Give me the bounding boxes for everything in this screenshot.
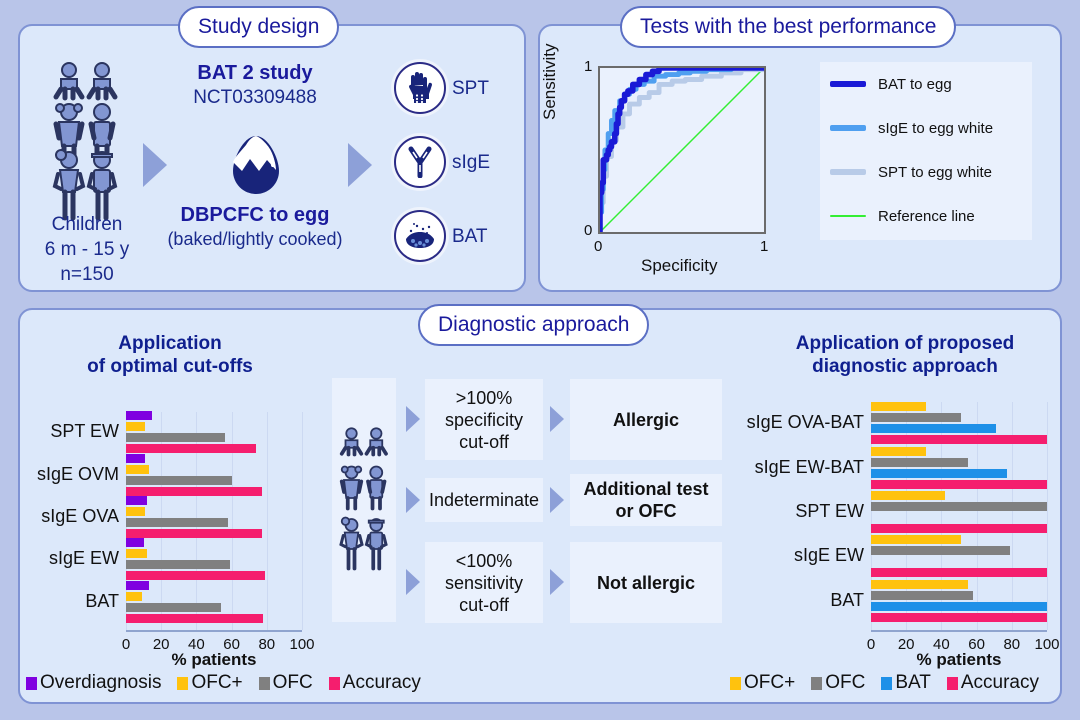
- left-chart-xlabel: % patients: [126, 650, 302, 670]
- bar-ofc: [871, 591, 973, 600]
- flow-criterion-3-line3: cut-off: [445, 594, 523, 616]
- legend-swatch: [881, 677, 892, 690]
- roc-plot-area: [598, 66, 766, 234]
- flow-arrow-row3-a: [406, 569, 420, 595]
- roc-ytick-0: 0: [584, 222, 592, 239]
- legend-swatch-sige-egg-white: [830, 125, 866, 131]
- flow-outcome-2-line2: or OFC: [584, 500, 709, 522]
- legend-item-ofc-: OFC+: [177, 672, 242, 694]
- bar-ofc: [126, 476, 232, 485]
- right-chart-title-line1: Application of proposed: [760, 332, 1050, 355]
- bar-overdiagnosis: [126, 496, 147, 505]
- bar-category-label: SPT EW: [795, 501, 871, 522]
- legend-label: OFC: [273, 672, 313, 694]
- legend-swatch-reference-line: [830, 215, 866, 217]
- bar-ofc-: [871, 402, 926, 411]
- legend-item-accuracy: Accuracy: [947, 672, 1039, 694]
- bar-group: sIgE EW: [126, 538, 302, 582]
- flow-arrow-row1-a: [406, 406, 420, 432]
- cohort-line-3: n=150: [22, 262, 152, 287]
- bar-category-label: sIgE EW: [49, 548, 126, 569]
- bar-category-label: BAT: [830, 590, 871, 611]
- bar-category-label: sIgE EW: [794, 545, 871, 566]
- right-chart-legend: OFC+OFCBATAccuracy: [730, 672, 1055, 694]
- bar-group: sIgE OVM: [126, 454, 302, 498]
- study-middle-heading: BAT 2 study NCT03309488: [160, 62, 350, 109]
- bar-accuracy: [871, 435, 1047, 444]
- flow-arrow-row2-b: [550, 487, 564, 513]
- right-bar-chart: sIgE OVA-BATsIgE EW-BATSPT EWsIgE EWBAT0…: [871, 402, 1047, 630]
- bar-category-label: sIgE EW-BAT: [755, 457, 871, 478]
- cohort-line-1: Children: [22, 212, 152, 237]
- flow-arrow-2: [348, 143, 372, 187]
- hand-prick-test-icon: [405, 71, 435, 105]
- legend-label: OFC: [825, 672, 865, 694]
- bat-label: BAT: [452, 226, 488, 248]
- flow-outcome-1: Allergic: [570, 379, 722, 460]
- cohort-caption: Children 6 m - 15 y n=150: [22, 212, 152, 287]
- bar-ofc: [871, 502, 1047, 511]
- bar-category-label: sIgE OVM: [37, 464, 126, 485]
- bar-group: sIgE EW-BAT: [871, 447, 1047, 491]
- spt-label: SPT: [452, 78, 489, 100]
- left-chart-title-line1: Application: [40, 332, 300, 355]
- bar-ofc-: [871, 580, 968, 589]
- bar-bat: [871, 602, 1047, 611]
- flow-arrow-1: [143, 143, 167, 187]
- sige-icon-badge: [394, 136, 446, 188]
- flow-criterion-3: <100% sensitivity cut-off: [425, 542, 543, 623]
- flow-arrow-row3-b: [550, 569, 564, 595]
- bar-group: sIgE EW: [871, 535, 1047, 579]
- diagnostic-title-pill: Diagnostic approach: [418, 304, 649, 346]
- study-name: BAT 2 study: [160, 62, 350, 85]
- roc-ylabel: Sensitivity: [540, 43, 560, 120]
- right-chart-title-line2: diagnostic approach: [760, 355, 1050, 378]
- legend-item-ofc-: OFC+: [730, 672, 795, 694]
- flow-arrow-row2-a: [406, 487, 420, 513]
- roc-legend: BAT to egg sIgE to egg white SPT to egg …: [820, 62, 1032, 240]
- legend-item-ofc: OFC: [811, 672, 865, 694]
- bar-group: SPT EW: [871, 491, 1047, 535]
- bar-ofc-: [871, 447, 926, 456]
- bar-ofc-: [126, 465, 149, 474]
- legend-item-spt-egg-white: SPT to egg white: [820, 150, 1032, 194]
- roc-xlabel: Specificity: [641, 256, 718, 276]
- bar-ofc-: [126, 592, 142, 601]
- bar-accuracy: [871, 480, 1047, 489]
- legend-item-ofc: OFC: [259, 672, 313, 694]
- bar-overdiagnosis: [126, 411, 152, 420]
- legend-label-sige-egg-white: sIgE to egg white: [878, 120, 993, 137]
- bar-group: BAT: [871, 580, 1047, 624]
- bar-ofc-: [871, 491, 945, 500]
- flow-outcome-2: Additional test or OFC: [570, 474, 722, 526]
- bar-ofc: [126, 433, 225, 442]
- legend-swatch: [947, 677, 958, 690]
- legend-swatch-spt-egg-white: [830, 169, 866, 175]
- bar-category-label: sIgE OVA: [41, 506, 126, 527]
- legend-swatch: [730, 677, 741, 690]
- sige-label: sIgE: [452, 152, 490, 174]
- bar-ofc-: [871, 535, 961, 544]
- left-chart-legend: OverdiagnosisOFC+OFCAccuracy: [26, 672, 437, 694]
- legend-label: BAT: [895, 672, 931, 694]
- family-group-icon: [338, 426, 392, 576]
- flow-criterion-2-line1: Indeterminate: [429, 489, 539, 511]
- bat-icon-badge: [394, 210, 446, 262]
- flow-criterion-3-line1: <100%: [445, 550, 523, 572]
- legend-item-reference-line: Reference line: [820, 194, 1032, 238]
- bar-group: BAT: [126, 581, 302, 625]
- legend-label-spt-egg-white: SPT to egg white: [878, 164, 992, 181]
- bar-overdiagnosis: [126, 538, 144, 547]
- registry-id: NCT03309488: [160, 87, 350, 109]
- legend-item-bat: BAT: [881, 672, 931, 694]
- x-axis-line: [871, 630, 1047, 632]
- flow-criterion-1-line1: >100%: [445, 387, 523, 409]
- bar-category-label: sIgE OVA-BAT: [747, 412, 871, 433]
- bar-group: sIgE OVA: [126, 496, 302, 540]
- legend-swatch: [177, 677, 188, 690]
- legend-item-sige-egg-white: sIgE to egg white: [820, 106, 1032, 150]
- flow-outcome-1-line1: Allergic: [613, 409, 679, 431]
- legend-item-overdiagnosis: Overdiagnosis: [26, 672, 161, 694]
- bar-accuracy: [871, 568, 1047, 577]
- bar-accuracy: [871, 524, 1047, 533]
- bar-bat: [871, 424, 996, 433]
- bar-accuracy: [871, 613, 1047, 622]
- flow-outcome-2-line1: Additional test: [584, 478, 709, 500]
- left-chart-title: Application of optimal cut-offs: [40, 332, 300, 378]
- bar-overdiagnosis: [126, 581, 149, 590]
- cohort-line-2: 6 m - 15 y: [22, 237, 152, 262]
- flow-criterion-1: >100% specificity cut-off: [425, 379, 543, 460]
- bar-group: sIgE OVA-BAT: [871, 402, 1047, 446]
- legend-label-bat-to-egg: BAT to egg: [878, 76, 952, 93]
- roc-curves: [600, 68, 764, 232]
- spt-icon-badge: [394, 62, 446, 114]
- bar-ofc-: [126, 422, 145, 431]
- study-design-title-pill: Study design: [178, 6, 339, 48]
- legend-label: Accuracy: [343, 672, 421, 694]
- roc-ytick-1: 1: [584, 58, 592, 75]
- bar-accuracy: [126, 529, 262, 538]
- legend-swatch-bat-to-egg: [830, 81, 866, 87]
- legend-label: OFC+: [191, 672, 242, 694]
- x-axis-line: [126, 630, 302, 632]
- flow-people-column: [332, 378, 396, 622]
- legend-swatch: [329, 677, 340, 690]
- challenge-caption: DBPCFC to egg (baked/lightly cooked): [150, 204, 360, 250]
- bar-accuracy: [126, 487, 262, 496]
- bar-accuracy: [126, 614, 263, 623]
- roc-xtick-0: 0: [594, 238, 602, 255]
- bar-accuracy: [126, 444, 256, 453]
- flow-criterion-1-line3: cut-off: [445, 431, 523, 453]
- legend-swatch: [811, 677, 822, 690]
- antibody-icon: [405, 146, 435, 178]
- flow-criterion-3-line2: sensitivity: [445, 572, 523, 594]
- basophil-dish-icon: [403, 221, 437, 251]
- legend-label: OFC+: [744, 672, 795, 694]
- flow-criterion-1-line2: specificity: [445, 409, 523, 431]
- bar-ofc: [126, 560, 230, 569]
- bar-category-label: SPT EW: [50, 421, 126, 442]
- bar-ofc: [126, 603, 221, 612]
- left-chart-title-line2: of optimal cut-offs: [40, 355, 300, 378]
- bar-bat: [871, 469, 1007, 478]
- bar-category-label: BAT: [85, 591, 126, 612]
- legend-swatch: [259, 677, 270, 690]
- flow-outcome-3-line1: Not allergic: [597, 572, 695, 594]
- bar-ofc: [871, 546, 1010, 555]
- left-bar-chart: SPT EWsIgE OVMsIgE OVAsIgE EWBAT02040608…: [126, 412, 302, 630]
- flow-criterion-2: Indeterminate: [425, 478, 543, 522]
- legend-swatch: [26, 677, 37, 690]
- bar-ofc: [126, 518, 228, 527]
- roc-xtick-1: 1: [760, 238, 768, 255]
- challenge-note: (baked/lightly cooked): [150, 229, 360, 250]
- bar-accuracy: [126, 571, 265, 580]
- bar-ofc: [871, 458, 968, 467]
- right-chart-xlabel: % patients: [871, 650, 1047, 670]
- right-chart-title: Application of proposed diagnostic appro…: [760, 332, 1050, 378]
- gridline: [302, 412, 303, 630]
- bar-overdiagnosis: [126, 454, 145, 463]
- flow-outcome-3: Not allergic: [570, 542, 722, 623]
- legend-label-reference-line: Reference line: [878, 208, 975, 225]
- bar-group: SPT EW: [126, 411, 302, 455]
- legend-label: Overdiagnosis: [40, 672, 161, 694]
- roc-title-pill: Tests with the best performance: [620, 6, 956, 48]
- legend-label: Accuracy: [961, 672, 1039, 694]
- bar-ofc: [871, 413, 961, 422]
- gridline: [1047, 402, 1048, 630]
- legend-item-accuracy: Accuracy: [329, 672, 421, 694]
- cracked-egg-icon: [228, 132, 284, 194]
- bar-ofc-: [126, 549, 147, 558]
- challenge-title: DBPCFC to egg: [150, 204, 360, 227]
- flow-arrow-row1-b: [550, 406, 564, 432]
- bar-ofc-: [126, 507, 145, 516]
- legend-item-bat-to-egg: BAT to egg: [820, 62, 1032, 106]
